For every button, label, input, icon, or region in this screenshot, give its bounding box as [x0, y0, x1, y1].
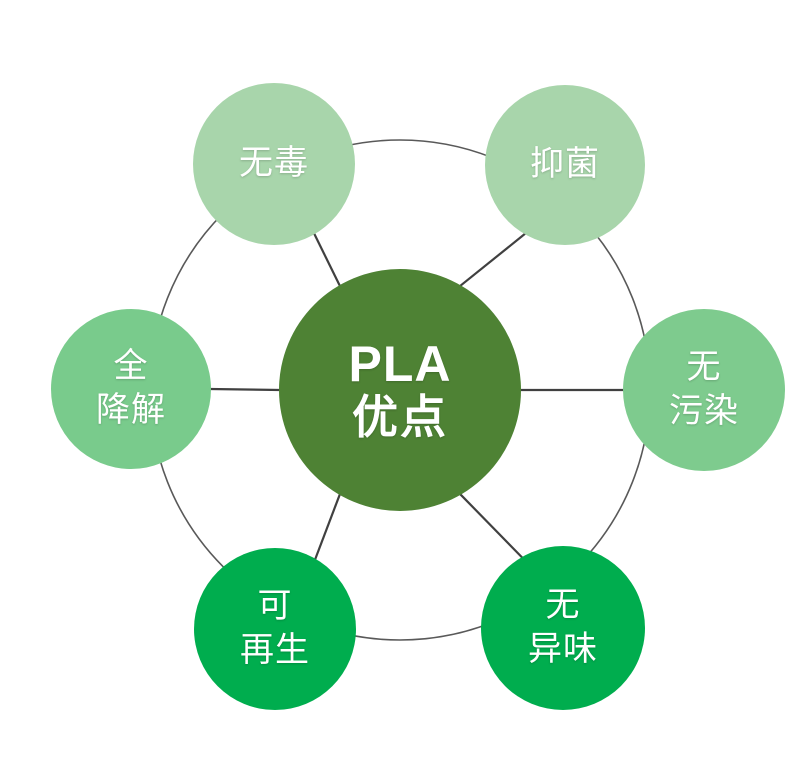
node-yijun-circle[interactable]	[485, 85, 645, 245]
spoke-node-kezaisheng	[315, 494, 340, 560]
node-quanjiangjie-circle[interactable]	[51, 309, 211, 469]
center-hub-circle[interactable]	[279, 269, 521, 511]
diagram-svg	[0, 0, 800, 758]
diagram-canvas: 无毒抑菌无污染无异味可再生全降解PLA优点	[0, 0, 800, 758]
node-nondu-circle[interactable]	[193, 83, 355, 245]
spoke-node-quanjiangjie	[210, 389, 280, 390]
spoke-node-wuyiwei	[460, 494, 523, 558]
node-wuwuran-circle[interactable]	[623, 309, 785, 471]
node-wuyiwei-circle[interactable]	[481, 546, 645, 710]
spoke-node-nondu	[314, 233, 340, 286]
spoke-node-yijun	[460, 233, 526, 286]
center-circle-group	[279, 269, 521, 511]
node-kezaisheng-circle[interactable]	[194, 548, 356, 710]
